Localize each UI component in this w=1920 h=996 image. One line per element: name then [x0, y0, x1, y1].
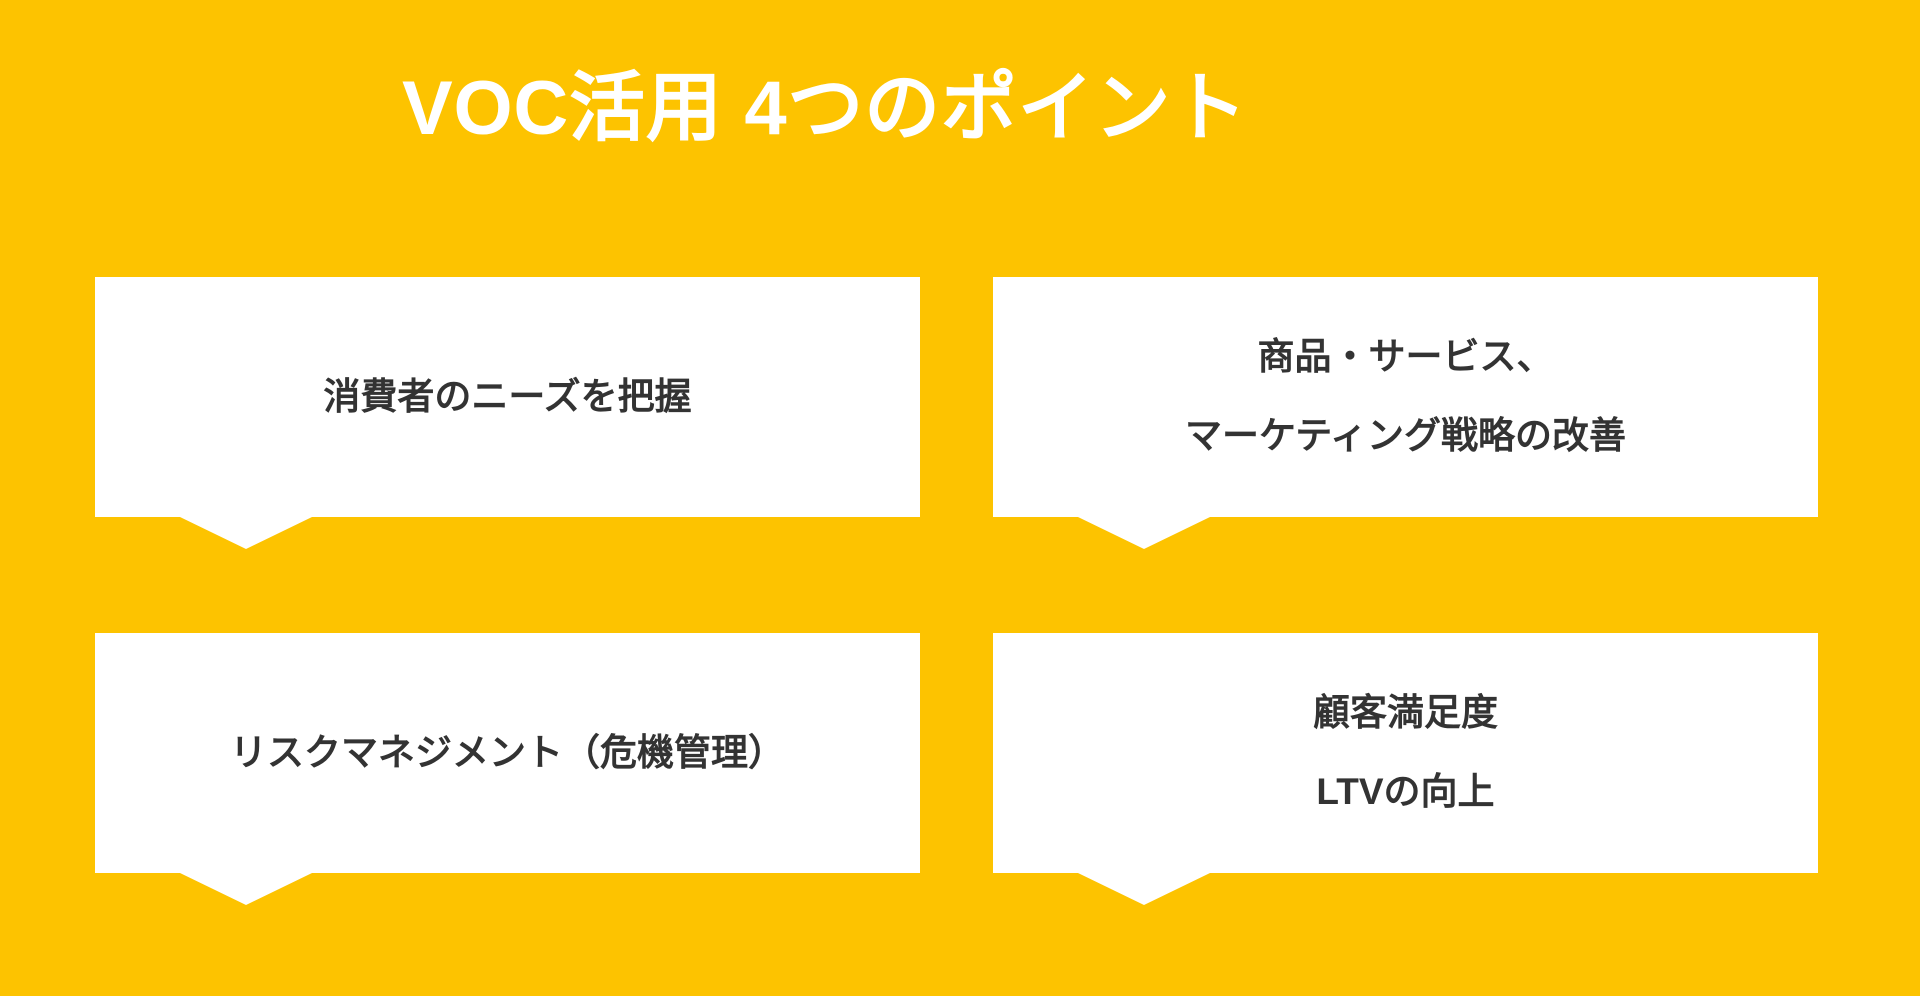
card-line: マーケティング戦略の改善: [1185, 415, 1626, 458]
card-body: 商品・サービス、 マーケティング戦略の改善: [993, 277, 1818, 517]
card-line: 商品・サービス、: [1258, 336, 1554, 379]
point-card-2: 商品・サービス、 マーケティング戦略の改善: [993, 277, 1818, 549]
point-card-1: 消費者のニーズを把握: [95, 277, 920, 549]
card-line: LTVの向上: [1316, 771, 1494, 814]
point-card-4: 顧客満足度 LTVの向上: [993, 633, 1818, 905]
point-card-3: リスクマネジメント（危機管理）: [95, 633, 920, 905]
card-line: 消費者のニーズを把握: [323, 376, 691, 419]
card-line: リスクマネジメント（危機管理）: [230, 732, 785, 775]
slide-canvas: VOC活用 4つのポイント 消費者のニーズを把握 商品・サービス、 マーケティン…: [0, 0, 1920, 996]
card-line: 顧客満足度: [1313, 692, 1498, 735]
card-body: 消費者のニーズを把握: [95, 277, 920, 517]
card-body: リスクマネジメント（危機管理）: [95, 633, 920, 873]
page-title: VOC活用 4つのポイント: [0, 66, 1785, 151]
card-body: 顧客満足度 LTVの向上: [993, 633, 1818, 873]
